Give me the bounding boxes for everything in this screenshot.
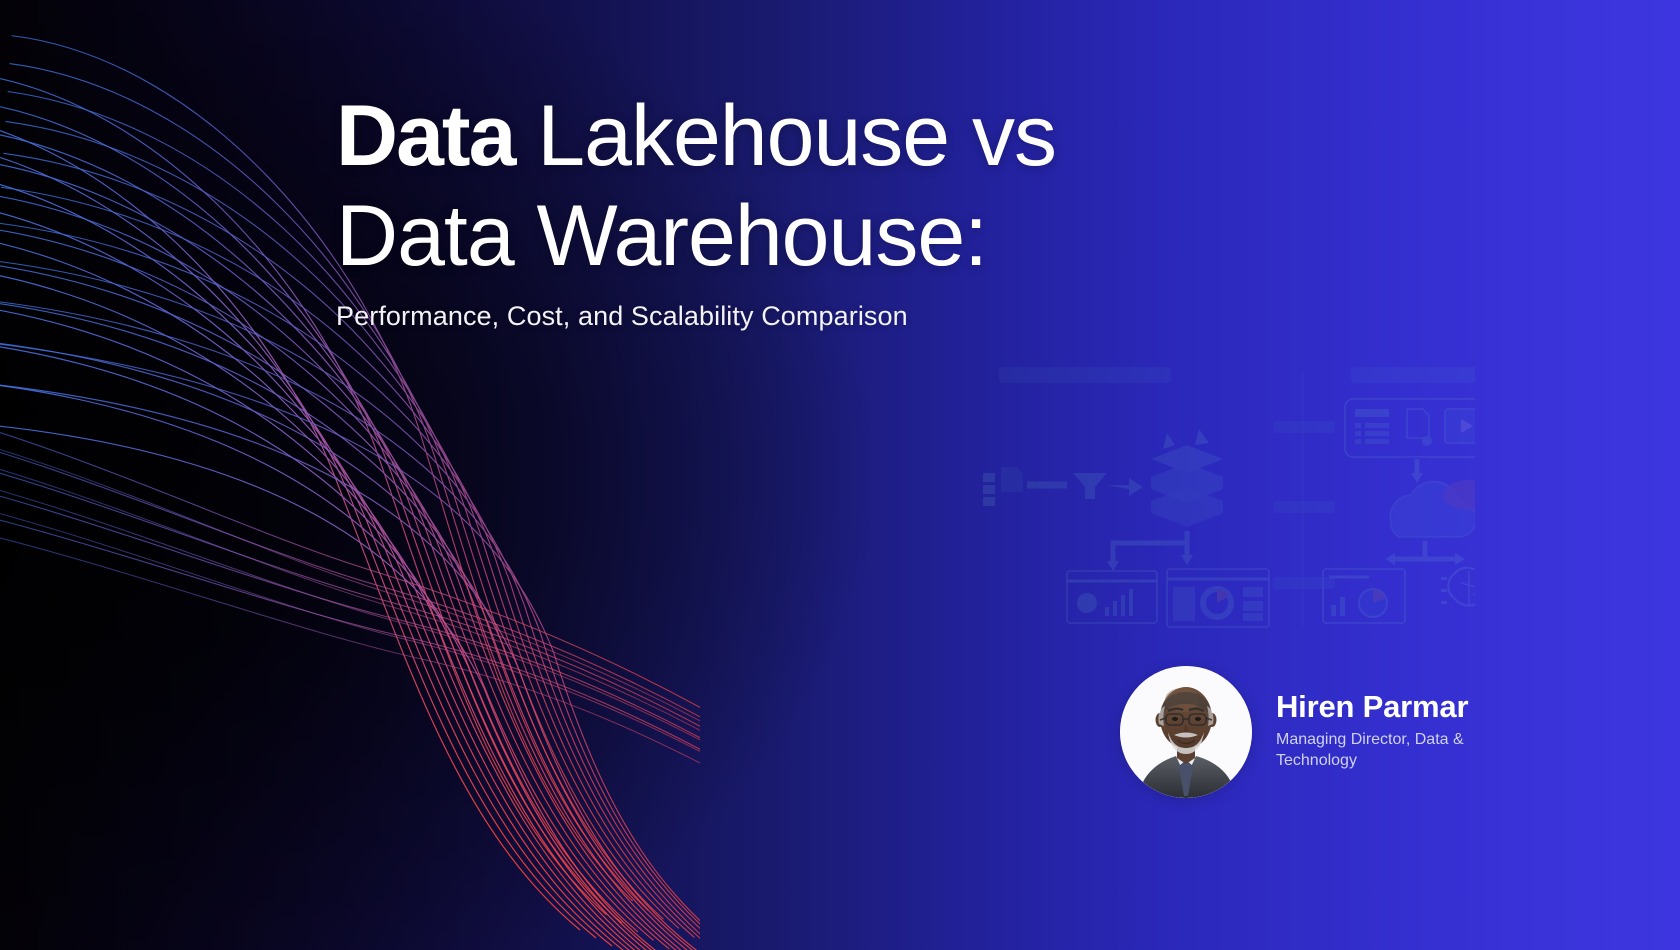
avatar <box>1120 666 1252 798</box>
headline-block: Data Lakehouse vs Data Warehouse: Perfor… <box>336 86 1236 334</box>
speaker-card: Hiren Parmar Managing Director, Data & T… <box>1120 672 1491 792</box>
page-title-line-1: Data Lakehouse vs <box>336 86 1236 186</box>
speaker-role: Managing Director, Data & Technology <box>1276 729 1491 771</box>
data-architecture-watermark-diagram <box>955 355 1475 645</box>
page-title-line-2: Data Warehouse: <box>336 186 1236 286</box>
speaker-text: Hiren Parmar Managing Director, Data & T… <box>1276 689 1491 775</box>
speaker-name: Hiren Parmar <box>1276 689 1491 725</box>
slide-canvas: Data Lakehouse vs Data Warehouse: Perfor… <box>0 0 1680 950</box>
title-accent-word: Data <box>336 88 514 184</box>
avatar-portrait-icon <box>1120 666 1252 798</box>
page-subtitle: Performance, Cost, and Scalability Compa… <box>336 298 1236 334</box>
title-line-1-rest: Lakehouse vs <box>514 88 1056 184</box>
